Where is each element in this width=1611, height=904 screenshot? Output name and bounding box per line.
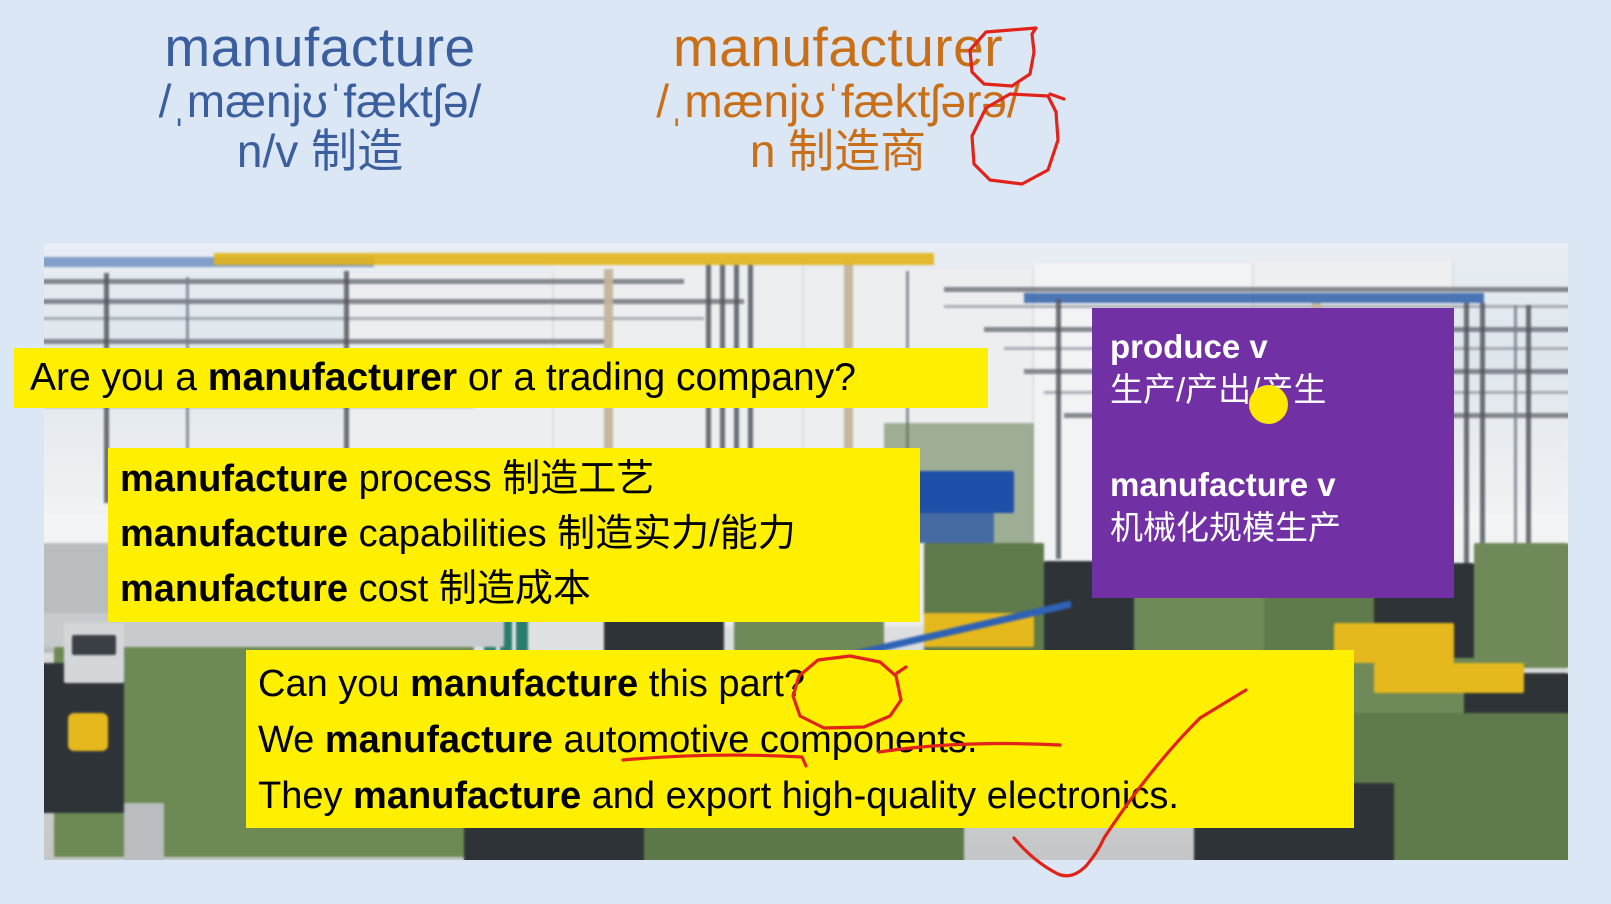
sentence-line: Can you manufacture this part? xyxy=(258,656,1354,712)
cursor-dot xyxy=(1249,385,1288,424)
collocation-line: manufacture process 制造工艺 xyxy=(120,452,920,507)
sentence-post: and export high-quality electronics. xyxy=(581,775,1179,817)
sentence-pre: Can you xyxy=(258,663,410,705)
vocab-ipa-left: /ˌmænjʊˈfæktʃə/ xyxy=(60,77,580,127)
collocation-rest: cost 制造成本 xyxy=(348,568,591,610)
sentence-line: They manufacture and export high-quality… xyxy=(258,768,1354,824)
collocation-rest: process 制造工艺 xyxy=(348,458,654,500)
synonym-gloss: 机械化规模生产 xyxy=(1110,506,1454,550)
vocab-gloss-left: n/v 制造 xyxy=(60,127,580,177)
sentence-post: automotive components. xyxy=(553,719,978,761)
collocation-keyword: manufacture xyxy=(120,568,348,610)
collocation-line: manufacture capabilities 制造实力/能力 xyxy=(120,507,920,562)
question-post: or a trading company? xyxy=(457,356,856,399)
collocation-keyword: manufacture xyxy=(120,458,348,500)
example-sentences-block: Can you manufacture this part? We manufa… xyxy=(246,650,1354,828)
sentence-keyword: manufacture xyxy=(410,663,638,705)
question-keyword: manufacturer xyxy=(208,356,457,399)
vocab-entry-manufacturer: manufacturer /ˌmænjʊˈfæktʃərə/ n 制造商 xyxy=(578,18,1098,177)
slide-canvas: manufacture /ˌmænjʊˈfæktʃə/ n/v 制造 manuf… xyxy=(0,0,1611,904)
sentence-post: this part? xyxy=(638,663,805,705)
vocab-gloss-right: n 制造商 xyxy=(578,127,1098,177)
sentence-line: We manufacture automotive components. xyxy=(258,712,1354,768)
vocab-ipa-right: /ˌmænjʊˈfæktʃərə/ xyxy=(578,77,1098,127)
collocation-line: manufacture cost 制造成本 xyxy=(120,562,920,617)
question-banner: Are you a manufacturer or a trading comp… xyxy=(14,348,988,408)
collocation-keyword: manufacture xyxy=(120,513,348,555)
panel-spacer xyxy=(1110,412,1454,464)
collocation-rest: capabilities 制造实力/能力 xyxy=(348,513,796,555)
synonym-panel: produce v 生产/产出/产生 manufacture v 机械化规模生产 xyxy=(1092,308,1454,598)
vocab-entry-manufacture: manufacture /ˌmænjʊˈfæktʃə/ n/v 制造 xyxy=(60,18,580,177)
sentence-keyword: manufacture xyxy=(325,719,553,761)
synonym-term: produce v xyxy=(1110,326,1454,368)
synonym-term: manufacture v xyxy=(1110,464,1454,506)
sentence-pre: They xyxy=(258,775,353,817)
vocab-word-left: manufacture xyxy=(60,18,580,77)
sentence-pre: We xyxy=(258,719,325,761)
sentence-keyword: manufacture xyxy=(353,775,581,817)
question-pre: Are you a xyxy=(30,356,208,399)
collocations-block: manufacture process 制造工艺 manufacture cap… xyxy=(108,448,920,622)
vocab-word-right: manufacturer xyxy=(578,18,1098,77)
